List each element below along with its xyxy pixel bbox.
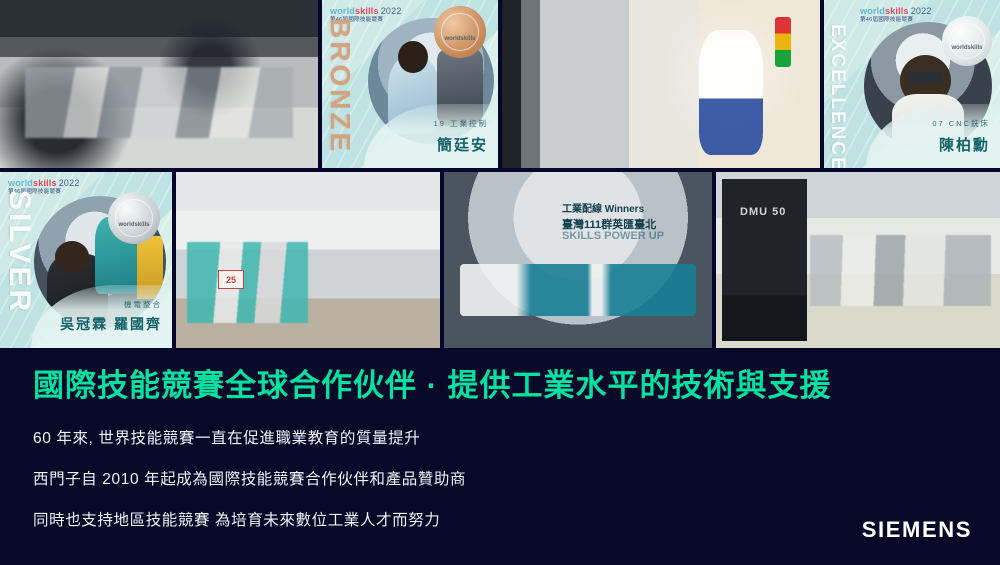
card-bronze-medal-text: worldskills [434, 36, 486, 42]
card-silver-medal-text: worldskills [108, 222, 160, 228]
photo-award-stage: 工業配線 Winners 臺灣111群英匯臺北 SKILLS POWER UP [444, 172, 712, 348]
body-copy: 60 年來, 世界技能競賽一直在促進職業教育的質量提升 西門子自 2010 年起… [33, 426, 466, 549]
text-band: 國際技能競賽全球合作伙伴 · 提供工業水平的技術與支援 60 年來, 世界技能競… [0, 350, 1000, 565]
body-line-2: 西門子自 2010 年起成為國際技能競賽合作伙伴和產品贊助商 [33, 467, 466, 489]
card-silver-skill: 機電整合 [31, 299, 162, 310]
photo-wiring-bench: 25 [176, 172, 440, 348]
card-silver-name: 吳冠霖 羅國齊 [31, 314, 162, 334]
card-bronze-award-label: BRONZE [326, 18, 354, 154]
worldskills-logo-excellence: worldskills2022 第46屆國際技能競賽 [860, 7, 932, 24]
photo-cnc-hall: DMU 50 [716, 172, 1000, 348]
card-excellence-skill: 07 CNC銑床 [866, 118, 990, 129]
card-excellence-medal-icon: worldskills [942, 16, 992, 66]
photo-wiring-bench-image [176, 172, 440, 348]
photo-automation-lab [0, 0, 318, 168]
worldskills-logo-skills: skills [355, 6, 379, 16]
machine-label-dmu50: DMU 50 [740, 206, 786, 218]
worldskills-logo-year: 2022 [911, 6, 932, 16]
stage-banner-title: 工業配線 Winners [562, 200, 644, 215]
photo-award-stage-image [444, 172, 712, 348]
slide-root: worldskills2022 第46屆國際技能競賽 BRONZE worlds… [0, 0, 1000, 565]
photo-control-panel [502, 0, 820, 168]
worldskills-logo-skills: skills [33, 178, 57, 188]
card-bronze: worldskills2022 第46屆國際技能競賽 BRONZE worlds… [322, 0, 498, 168]
body-line-3: 同時也支持地區技能競賽 為培育未來數位工業人才而努力 [33, 508, 466, 530]
body-line-1: 60 年來, 世界技能競賽一直在促進職業教育的質量提升 [33, 426, 466, 448]
photo-automation-lab-image [0, 0, 318, 168]
photo-mosaic: worldskills2022 第46屆國際技能競賽 BRONZE worlds… [0, 0, 1000, 350]
card-excellence-award-label: EXCELLENCE [828, 24, 847, 168]
photo-cnc-hall-image [716, 172, 1000, 348]
card-silver: worldskills2022 第46屆國際技能競賽 SILVER worlds… [0, 172, 172, 348]
card-excellence-medal-text: worldskills [942, 45, 992, 51]
card-bronze-skill: 19 工業控制 [364, 118, 488, 129]
worldskills-logo-year: 2022 [59, 178, 80, 188]
worldskills-logo-world: world [330, 6, 355, 16]
card-bronze-medal-icon: worldskills [434, 6, 486, 58]
card-excellence-name: 陳柏勳 [866, 134, 990, 155]
stage-banner-subtitle-en: SKILLS POWER UP [562, 230, 664, 242]
photo-control-panel-image [502, 0, 820, 168]
headline: 國際技能競賽全球合作伙伴 · 提供工業水平的技術與支援 [33, 360, 973, 405]
card-bronze-name: 簡廷安 [364, 134, 488, 155]
card-excellence: worldskills2022 第46屆國際技能競賽 EXCELLENCE wo… [824, 0, 1000, 168]
worldskills-logo-skills: skills [885, 6, 909, 16]
competitor-number-badge: 25 [218, 270, 244, 289]
card-silver-award-label: SILVER [4, 190, 34, 314]
worldskills-logo-year: 2022 [381, 6, 402, 16]
worldskills-logo-world: world [8, 178, 33, 188]
card-silver-medal-icon: worldskills [108, 192, 160, 244]
siemens-logo: SIEMENS [862, 517, 972, 543]
worldskills-logo-world: world [860, 6, 885, 16]
